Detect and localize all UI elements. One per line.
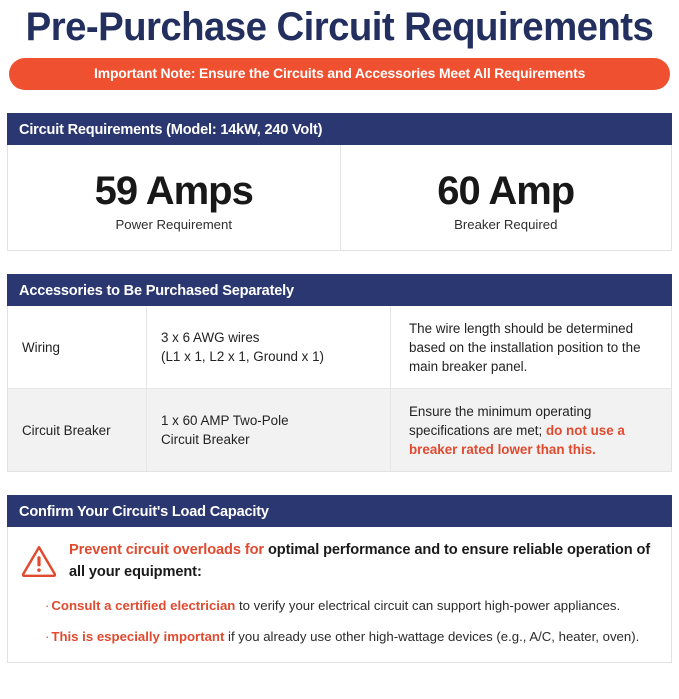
load-capacity-header: Confirm Your Circuit's Load Capacity — [7, 495, 672, 527]
warning-bullet-list: ·Consult a certified electrician to veri… — [20, 597, 657, 646]
stat-power-requirement: 59 Amps Power Requirement — [8, 145, 340, 250]
table-row: Circuit Breaker 1 x 60 AMP Two-Pole Circ… — [8, 388, 671, 471]
circuit-requirements-header: Circuit Requirements (Model: 14kW, 240 V… — [7, 113, 672, 145]
accessories-table: Wiring 3 x 6 AWG wires (L1 x 1, L2 x 1, … — [7, 306, 672, 472]
accessories-section: Accessories to Be Purchased Separately W… — [7, 274, 672, 472]
accessory-note: The wire length should be determined bas… — [390, 306, 671, 388]
accessory-item-name: Circuit Breaker — [8, 389, 146, 471]
bullet-marker: · — [45, 598, 49, 613]
stat-label: Power Requirement — [115, 217, 232, 232]
accessory-item-name: Wiring — [8, 306, 146, 388]
load-capacity-body: Prevent circuit overloads for optimal pe… — [7, 527, 672, 663]
stat-label: Breaker Required — [454, 217, 557, 232]
bullet-rest: to verify your electrical circuit can su… — [235, 598, 620, 613]
accessory-spec-line2: (L1 x 1, L2 x 1, Ground x 1) — [161, 347, 324, 366]
important-note-banner: Important Note: Ensure the Circuits and … — [9, 58, 670, 90]
circuit-requirements-header-label: Circuit Requirements (Model: 14kW, 240 V… — [19, 121, 322, 138]
accessory-note: Ensure the minimum operating specificati… — [390, 389, 671, 471]
accessories-header-label: Accessories to Be Purchased Separately — [19, 282, 294, 299]
warning-text-highlight: Prevent circuit overloads for — [69, 542, 264, 558]
load-capacity-header-label: Confirm Your Circuit's Load Capacity — [19, 503, 269, 520]
requirements-document: Pre-Purchase Circuit Requirements Import… — [0, 4, 679, 699]
accessory-note-plain: The wire length should be determined bas… — [409, 321, 641, 374]
warning-triangle-icon — [20, 542, 58, 580]
stat-value: 60 Amp — [437, 170, 574, 212]
bullet-marker: · — [45, 629, 49, 644]
accessory-spec-line1: 3 x 6 AWG wires — [161, 328, 324, 347]
table-row: Wiring 3 x 6 AWG wires (L1 x 1, L2 x 1, … — [8, 306, 671, 388]
circuit-requirements-section: Circuit Requirements (Model: 14kW, 240 V… — [7, 113, 672, 251]
list-item: ·Consult a certified electrician to veri… — [45, 597, 657, 615]
accessory-spec: 1 x 60 AMP Two-Pole Circuit Breaker — [146, 389, 390, 471]
stat-breaker-required: 60 Amp Breaker Required — [340, 145, 672, 250]
warning-block: Prevent circuit overloads for optimal pe… — [20, 539, 657, 583]
page-title: Pre-Purchase Circuit Requirements — [20, 4, 658, 50]
accessory-spec: 3 x 6 AWG wires (L1 x 1, L2 x 1, Ground … — [146, 306, 390, 388]
stat-value: 59 Amps — [95, 170, 253, 212]
bullet-rest: if you already use other high-wattage de… — [224, 629, 639, 644]
warning-text: Prevent circuit overloads for optimal pe… — [69, 539, 657, 583]
list-item: ·This is especially important if you alr… — [45, 628, 657, 646]
accessory-spec-line1: 1 x 60 AMP Two-Pole — [161, 411, 289, 430]
load-capacity-section: Confirm Your Circuit's Load Capacity Pre… — [7, 495, 672, 663]
important-note-text: Important Note: Ensure the Circuits and … — [94, 66, 585, 82]
bullet-highlight: Consult a certified electrician — [51, 598, 235, 613]
circuit-stats-card: 59 Amps Power Requirement 60 Amp Breaker… — [7, 145, 672, 251]
accessories-header: Accessories to Be Purchased Separately — [7, 274, 672, 306]
bullet-highlight: This is especially important — [51, 629, 224, 644]
accessory-spec-line2: Circuit Breaker — [161, 430, 289, 449]
